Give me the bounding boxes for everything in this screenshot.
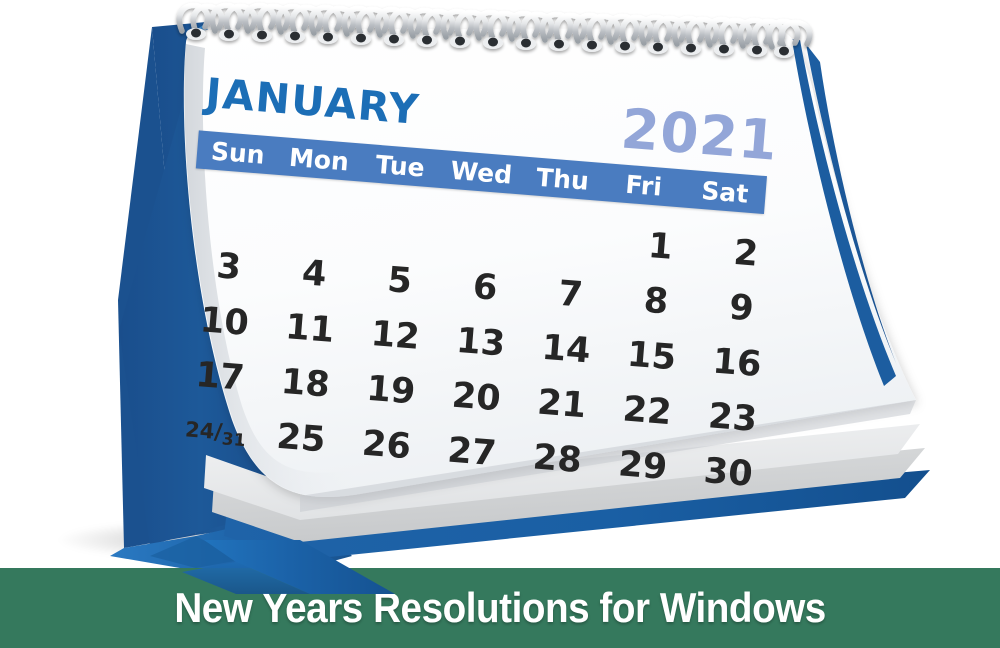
weekday-fri: Fri	[602, 168, 685, 203]
day-cell: 1	[615, 216, 705, 278]
day-31: 31	[221, 429, 246, 451]
bottom-banner: New Years Resolutions for Windows	[0, 568, 1000, 648]
day-cell: 20	[431, 367, 521, 429]
weekday-sat: Sat	[683, 174, 767, 209]
day-cell: 23	[688, 388, 778, 450]
day-cell: 10	[179, 292, 269, 354]
day-cell: 27	[427, 422, 517, 484]
weekday-wed: Wed	[440, 155, 523, 190]
day-cell: 6	[440, 258, 530, 320]
weekday-tue: Tue	[358, 148, 442, 183]
day-cell: 14	[521, 319, 611, 381]
day-24: 24	[184, 417, 215, 443]
day-cell: 16	[692, 333, 782, 395]
day-cell: 19	[346, 360, 436, 422]
day-cell: 11	[265, 299, 355, 361]
day-cell: 17	[175, 347, 265, 409]
day-cell	[188, 182, 278, 244]
day-cell: 8	[611, 271, 701, 333]
day-cell	[530, 210, 620, 272]
day-cell: 26	[341, 415, 431, 477]
day-cell: 7	[526, 264, 616, 326]
day-cell: 15	[607, 326, 697, 388]
day-cell: 13	[436, 312, 526, 374]
day-cell	[274, 189, 364, 251]
weekday-mon: Mon	[277, 141, 360, 176]
day-cell: 28	[512, 429, 602, 491]
day-cell: 21	[517, 374, 607, 436]
day-cell-dual: 24/31	[171, 401, 261, 463]
day-cell	[445, 203, 535, 265]
day-cell: 2	[701, 223, 791, 285]
weekday-thu: Thu	[521, 161, 605, 196]
calendar-sheet-content: JANUARY 2021 Sun Mon Tue Wed Thu Fri Sat…	[164, 66, 814, 514]
day-cell: 29	[598, 436, 688, 498]
day-cell: 30	[683, 443, 773, 505]
day-cell: 12	[350, 306, 440, 368]
day-cell: 9	[696, 278, 786, 340]
day-cell: 5	[355, 251, 445, 313]
day-cell: 25	[256, 408, 346, 470]
year-label: 2021	[619, 96, 781, 172]
calendar-poster: JANUARY 2021 Sun Mon Tue Wed Thu Fri Sat…	[0, 0, 1000, 648]
days-grid: 1 2 3 4 5 6 7 8 9 10 11 12 13 14 15 16 1…	[171, 182, 791, 504]
day-cell: 3	[184, 237, 274, 299]
day-cell: 4	[269, 244, 359, 306]
weekday-sun: Sun	[196, 135, 279, 170]
day-cell	[359, 196, 449, 258]
day-cell: 22	[602, 381, 692, 443]
day-cell: 18	[260, 353, 350, 415]
banner-title: New Years Resolutions for Windows	[174, 584, 826, 632]
